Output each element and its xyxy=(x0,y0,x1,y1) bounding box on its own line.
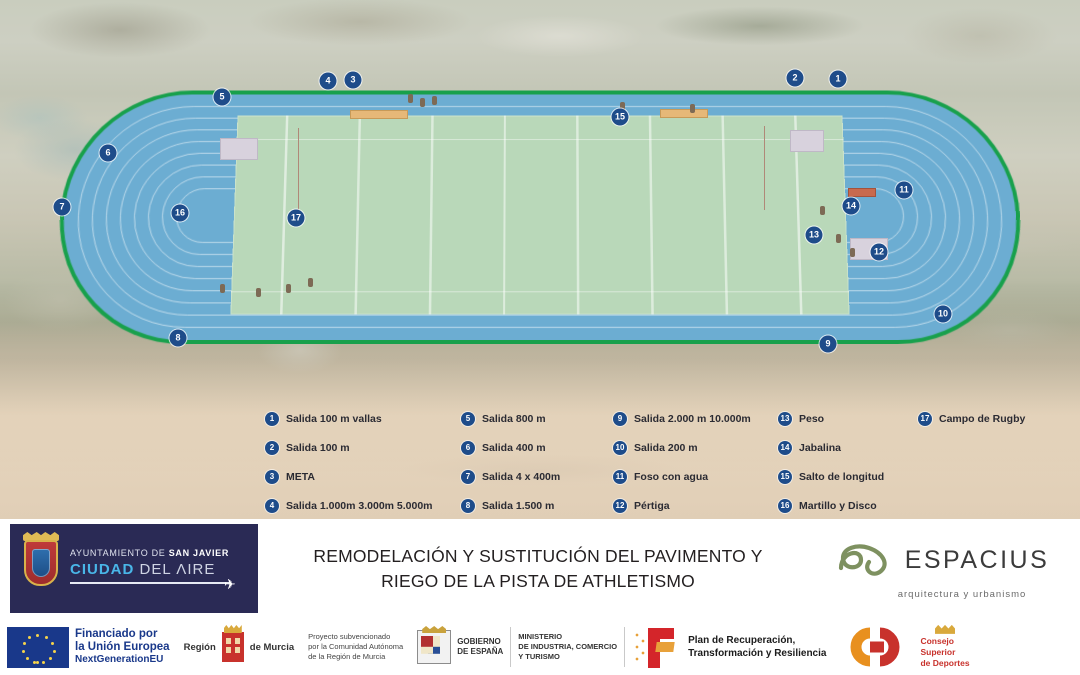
map-marker-5[interactable]: 5 xyxy=(214,89,231,106)
athlete-figure xyxy=(836,234,841,243)
athlete-figure xyxy=(432,96,437,105)
ministerio-block: MINISTERIO DE INDUSTRIA, COMERCIO Y TURI… xyxy=(511,619,624,675)
map-marker-10[interactable]: 10 xyxy=(935,306,952,323)
murcia-crest-icon xyxy=(222,632,244,662)
athlete-figure xyxy=(220,284,225,293)
legend-badge: 17 xyxy=(918,412,932,426)
murcia-prefix: Región xyxy=(184,642,216,653)
espacius-mark-icon xyxy=(835,538,897,582)
legend-badge: 10 xyxy=(613,441,627,455)
map-marker-17[interactable]: 17 xyxy=(288,210,305,227)
legend-badge: 2 xyxy=(265,441,279,455)
rugby-infield xyxy=(230,116,849,315)
gobierno-line1: GOBIERNO xyxy=(457,637,503,647)
athlete-figure xyxy=(850,248,855,257)
murcia-suffix: de Murcia xyxy=(250,642,294,653)
legend: 1Salida 100 m vallas5Salida 800 m9Salida… xyxy=(265,412,1065,517)
legend-item-5: 5Salida 800 m xyxy=(461,412,613,426)
legend-badge: 1 xyxy=(265,412,279,426)
map-marker-6[interactable]: 6 xyxy=(100,145,117,162)
map-marker-14[interactable]: 14 xyxy=(843,198,860,215)
eu-flag-icon xyxy=(7,627,69,668)
map-marker-9[interactable]: 9 xyxy=(820,336,837,353)
project-title-line1: REMODELACIÓN Y SUSTITUCIÓN DEL PAVIMENTO… xyxy=(313,544,762,569)
council-logo-line1: AYUNTAMIENTO DE SAN JAVIER xyxy=(70,548,229,558)
csd-line3: de Deportes xyxy=(920,658,969,669)
legend-item-16: 16Martillo y Disco xyxy=(778,499,918,513)
council-logo-prefix: AYUNTAMIENTO DE xyxy=(70,548,169,558)
legend-badge: 6 xyxy=(461,441,475,455)
legend-item-1: 1Salida 100 m vallas xyxy=(265,412,461,426)
funding-footer: Financiado por la Unión Europea NextGene… xyxy=(0,619,1080,675)
eu-line2: la Unión Europea xyxy=(75,641,170,654)
eu-funding-block: Financiado por la Unión Europea NextGene… xyxy=(0,619,177,675)
legend-badge: 7 xyxy=(461,470,475,484)
legend-item-9: 9Salida 2.000 m 10.000m xyxy=(613,412,778,426)
legend-badge: 12 xyxy=(613,499,627,513)
map-marker-1[interactable]: 1 xyxy=(830,71,847,88)
athlete-figure xyxy=(308,278,313,287)
map-marker-7[interactable]: 7 xyxy=(54,199,71,216)
legend-badge: 9 xyxy=(613,412,627,426)
legend-item-7: 7Salida 4 x 400m xyxy=(461,470,613,484)
csd-block: Consejo Superior de Deportes xyxy=(833,619,976,675)
map-marker-13[interactable]: 13 xyxy=(806,227,823,244)
eu-funding-text: Financiado por la Unión Europea NextGene… xyxy=(75,628,170,666)
prtr-block: Plan de Recuperación, Transformación y R… xyxy=(625,619,833,675)
csd-line2: Superior xyxy=(920,647,969,658)
airplane-icon: ✈ xyxy=(224,577,236,591)
san-javier-council-logo: AYUNTAMIENTO DE SAN JAVIER CIUDAD DEL ΛI… xyxy=(10,524,258,613)
legend-item-3: 3META xyxy=(265,470,461,484)
project-title: REMODELACIÓN Y SUSTITUCIÓN DEL PAVIMENTO… xyxy=(258,519,818,619)
espacius-logo: ESPACIUS arquitectura y urbanismo xyxy=(818,519,1080,619)
legend-label: Salida 200 m xyxy=(634,442,698,454)
gobierno-espana-block: GOBIERNO DE ESPAÑA xyxy=(410,619,510,675)
eu-line3: NextGenerationEU xyxy=(75,654,170,666)
prtr-line1: Plan de Recuperación, xyxy=(688,634,826,647)
legend-label: Salida 800 m xyxy=(482,413,546,425)
council-logo-city: SAN JAVIER xyxy=(169,548,229,558)
athlete-figure xyxy=(420,98,425,107)
athlete-figure xyxy=(286,284,291,293)
subsidy-line1: Proyecto subvencionado xyxy=(308,632,403,642)
legend-badge: 3 xyxy=(265,470,279,484)
eu-line1: Financiado por xyxy=(75,628,170,641)
subsidy-line3: de la Región de Murcia xyxy=(308,652,403,662)
legend-badge: 8 xyxy=(461,499,475,513)
map-marker-3[interactable]: 3 xyxy=(345,72,362,89)
spain-coat-of-arms-icon xyxy=(417,630,451,664)
council-logo-delaire: DEL ΛIRE xyxy=(134,561,215,578)
legend-badge: 13 xyxy=(778,412,792,426)
water-jump-mat xyxy=(848,188,876,197)
legend-badge: 15 xyxy=(778,470,792,484)
legend-item-14: 14Jabalina xyxy=(778,441,918,455)
legend-badge: 11 xyxy=(613,470,627,484)
divider xyxy=(70,582,230,584)
long-jump-mat xyxy=(350,110,408,119)
pole-vault-pad xyxy=(790,130,824,152)
prtr-logo-icon xyxy=(632,626,682,668)
map-marker-15[interactable]: 15 xyxy=(612,109,629,126)
ministerio-line1: MINISTERIO xyxy=(518,632,617,642)
athlete-figure xyxy=(820,206,825,215)
title-strip: AYUNTAMIENTO DE SAN JAVIER CIUDAD DEL ΛI… xyxy=(0,519,1080,619)
legend-label: Foso con agua xyxy=(634,471,708,483)
legend-label: META xyxy=(286,471,315,483)
legend-badge: 16 xyxy=(778,499,792,513)
legend-item-6: 6Salida 400 m xyxy=(461,441,613,455)
pole-vault-post-2 xyxy=(764,126,765,210)
legend-item-12: 12Pértiga xyxy=(613,499,778,513)
coat-of-arms-icon xyxy=(24,540,58,586)
legend-label: Salida 2.000 m 10.000m xyxy=(634,413,751,425)
subsidy-note: Proyecto subvencionado por la Comunidad … xyxy=(301,619,410,675)
csd-mark-icon xyxy=(840,625,914,669)
legend-badge: 5 xyxy=(461,412,475,426)
pole-vault-post xyxy=(298,128,299,220)
legend-label: Salida 4 x 400m xyxy=(482,471,560,483)
legend-item-11: 11Foso con agua xyxy=(613,470,778,484)
legend-label: Campo de Rugby xyxy=(939,413,1025,425)
legend-item-10: 10Salida 200 m xyxy=(613,441,778,455)
map-marker-2[interactable]: 2 xyxy=(787,70,804,87)
legend-badge: 14 xyxy=(778,441,792,455)
legend-item-15: 15Salto de longitud xyxy=(778,470,918,484)
athletics-track-diagram xyxy=(60,88,1020,343)
gobierno-line2: DE ESPAÑA xyxy=(457,647,503,657)
espacius-tagline: arquitectura y urbanismo xyxy=(898,589,1027,600)
map-marker-16[interactable]: 16 xyxy=(172,205,189,222)
legend-label: Pértiga xyxy=(634,500,670,512)
legend-label: Salto de longitud xyxy=(799,471,884,483)
legend-label: Peso xyxy=(799,413,824,425)
crown-icon xyxy=(935,625,955,634)
prtr-line2: Transformación y Resiliencia xyxy=(688,647,826,660)
legend-label: Salida 1.000m 3.000m 5.000m xyxy=(286,500,433,512)
map-marker-8[interactable]: 8 xyxy=(170,330,187,347)
athlete-figure xyxy=(408,94,413,103)
ministerio-line3: Y TURISMO xyxy=(518,652,617,662)
legend-label: Salida 1.500 m xyxy=(482,500,554,512)
council-logo-line2: CIUDAD DEL ΛIRE xyxy=(70,561,215,578)
athlete-figure xyxy=(690,104,695,113)
athlete-figure xyxy=(256,288,261,297)
subsidy-line2: por la Comunidad Autónoma xyxy=(308,642,403,652)
region-murcia-block: Región de Murcia xyxy=(177,619,302,675)
map-marker-4[interactable]: 4 xyxy=(320,73,337,90)
espacius-wordmark: ESPACIUS xyxy=(905,546,1050,575)
legend-item-17: 17Campo de Rugby xyxy=(918,412,1065,426)
legend-label: Salida 100 m vallas xyxy=(286,413,382,425)
ministerio-line2: DE INDUSTRIA, COMERCIO xyxy=(518,642,617,652)
legend-item-4: 4Salida 1.000m 3.000m 5.000m xyxy=(265,499,461,513)
high-jump-pad xyxy=(220,138,258,160)
map-marker-12[interactable]: 12 xyxy=(871,244,888,261)
legend-label: Salida 100 m xyxy=(286,442,350,454)
legend-label: Martillo y Disco xyxy=(799,500,877,512)
project-title-line2: RIEGO DE LA PISTA DE ATHLETISMO xyxy=(381,569,695,594)
legend-item-13: 13Peso xyxy=(778,412,918,426)
legend-label: Salida 400 m xyxy=(482,442,546,454)
legend-badge: 4 xyxy=(265,499,279,513)
legend-label: Jabalina xyxy=(799,442,841,454)
legend-item-2: 2Salida 100 m xyxy=(265,441,461,455)
council-logo-ciudad: CIUDAD xyxy=(70,561,134,578)
legend-item-8: 8Salida 1.500 m xyxy=(461,499,613,513)
long-jump-mat-2 xyxy=(660,109,708,118)
csd-line1: Consejo xyxy=(920,636,969,647)
map-marker-11[interactable]: 11 xyxy=(896,182,913,199)
project-signboard: 1234567891011121314151617 1Salida 100 m … xyxy=(0,0,1080,675)
